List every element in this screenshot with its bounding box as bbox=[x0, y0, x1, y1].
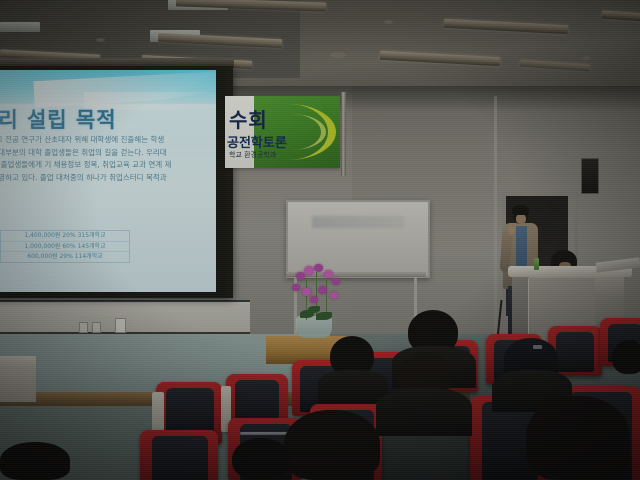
orchid-bloom bbox=[332, 278, 340, 285]
wall-speaker bbox=[581, 158, 599, 194]
water-bottle bbox=[534, 258, 539, 270]
presenter-face bbox=[516, 214, 526, 224]
orchid-bloom bbox=[330, 292, 338, 299]
banner-subtitle: 공전학토론 bbox=[227, 132, 287, 151]
ceiling-light-glow bbox=[0, 22, 40, 32]
audience-member-shoulders bbox=[376, 388, 472, 436]
banner-title: 수회 bbox=[229, 104, 268, 133]
presenter-hair bbox=[512, 205, 529, 215]
audience-member-head bbox=[232, 438, 290, 480]
ceiling-vent bbox=[96, 38, 105, 42]
orchid-bloom bbox=[292, 284, 300, 291]
ceiling-vent bbox=[330, 52, 346, 58]
power-outlet[interactable] bbox=[79, 322, 88, 333]
seat-cushion bbox=[556, 332, 594, 372]
banner-support-pole bbox=[341, 92, 346, 176]
orchid-bloom bbox=[324, 270, 333, 278]
audience-member-head bbox=[612, 340, 640, 374]
seat-cushion bbox=[152, 436, 208, 480]
banner-affiliation: 학교 환경공학과 bbox=[229, 150, 276, 160]
ceiling-vent bbox=[582, 56, 591, 60]
orchid-leaf bbox=[316, 312, 332, 320]
slide-glare bbox=[0, 70, 216, 292]
audience-member-shoulders bbox=[318, 370, 388, 404]
audience-member-head bbox=[0, 442, 70, 480]
ceiling-vent bbox=[384, 20, 393, 24]
wall-corner bbox=[494, 96, 497, 346]
presenter-hand bbox=[508, 226, 515, 235]
whiteboard-erased-writing bbox=[312, 216, 404, 228]
orchid-bloom bbox=[318, 286, 327, 294]
orchid-bloom bbox=[310, 296, 318, 303]
orchid-bloom bbox=[302, 288, 311, 296]
presenter-shirt bbox=[516, 226, 527, 270]
cap-logo-icon bbox=[533, 345, 542, 349]
side-table bbox=[0, 356, 36, 402]
orchid-bloom bbox=[304, 266, 314, 275]
orchid-bloom bbox=[296, 272, 305, 280]
orchid-bloom bbox=[314, 264, 323, 272]
audience-member-head bbox=[526, 396, 630, 480]
light-switch[interactable] bbox=[115, 318, 126, 333]
lecture-hall-photo: 아리 설립 목적 별해고 전공 연구가 산초대자 위해 대학생에 진출해는 학생… bbox=[0, 0, 640, 480]
audience-member-head bbox=[284, 410, 380, 480]
power-outlet[interactable] bbox=[92, 322, 101, 333]
orchid-leaf bbox=[308, 306, 320, 313]
presentation-slide: 아리 설립 목적 별해고 전공 연구가 산초대자 위해 대학생에 진출해는 학생… bbox=[0, 70, 216, 292]
event-banner: 수회 공전학토론 학교 환경공학과 bbox=[225, 96, 340, 168]
seat-trim bbox=[240, 432, 292, 435]
